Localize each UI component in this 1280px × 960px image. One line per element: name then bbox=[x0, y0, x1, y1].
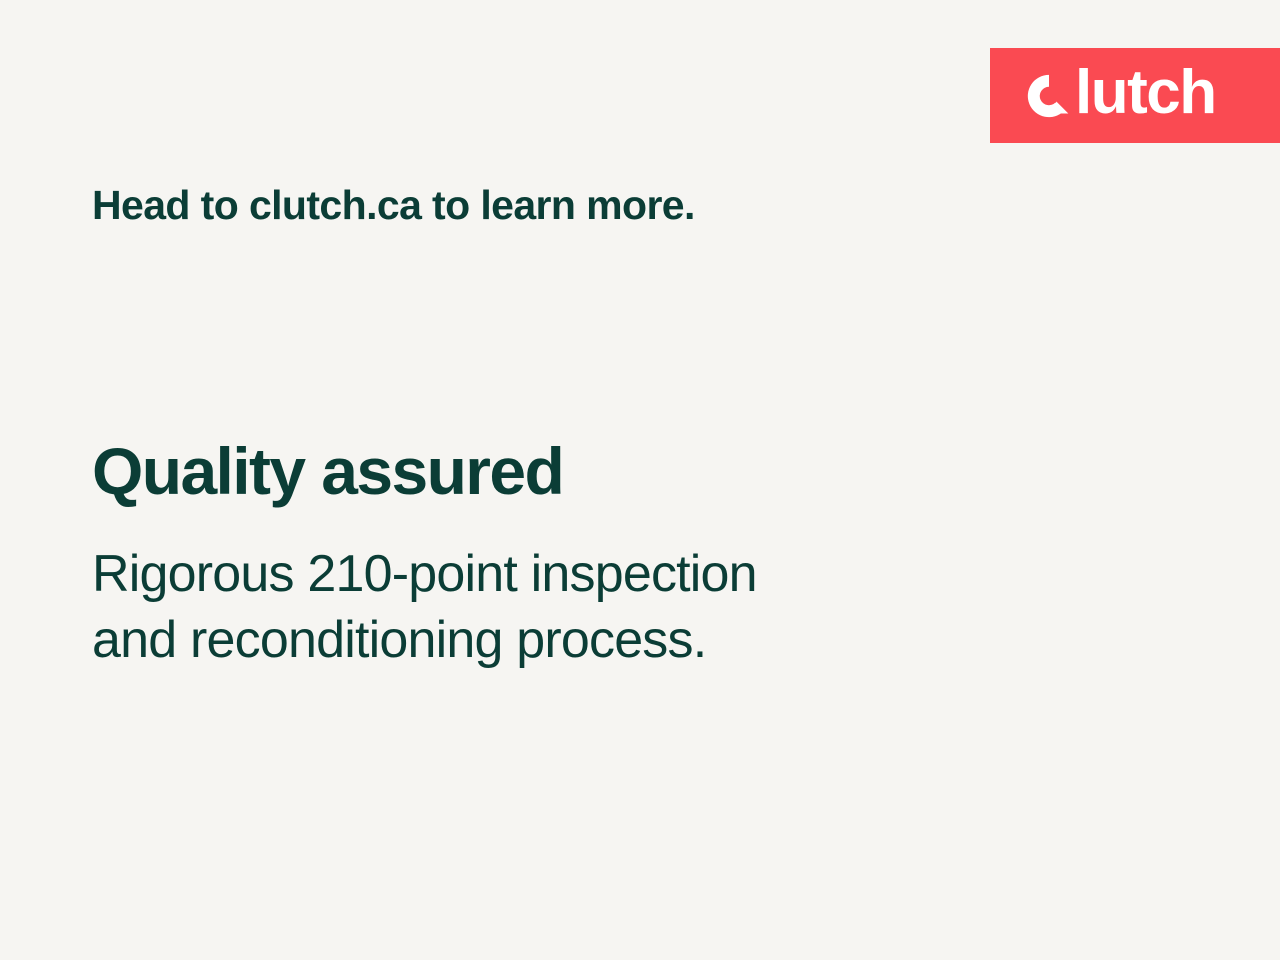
subcopy-line-2: and reconditioning process. bbox=[92, 608, 757, 674]
subcopy-text: Rigorous 210-point inspection and recond… bbox=[92, 542, 757, 673]
subcopy-line-1: Rigorous 210-point inspection bbox=[92, 542, 757, 608]
clutch-logo-block[interactable]: lutch bbox=[990, 48, 1280, 143]
eyebrow-text: Head to clutch.ca to learn more. bbox=[92, 182, 695, 229]
clutch-c-mark-icon bbox=[1026, 73, 1072, 119]
page-title: Quality assured bbox=[92, 437, 563, 506]
slide-canvas: lutch Head to clutch.ca to learn more. Q… bbox=[0, 0, 1280, 960]
clutch-logo-lockup: lutch bbox=[1026, 48, 1216, 143]
clutch-wordmark: lutch bbox=[1075, 62, 1216, 124]
